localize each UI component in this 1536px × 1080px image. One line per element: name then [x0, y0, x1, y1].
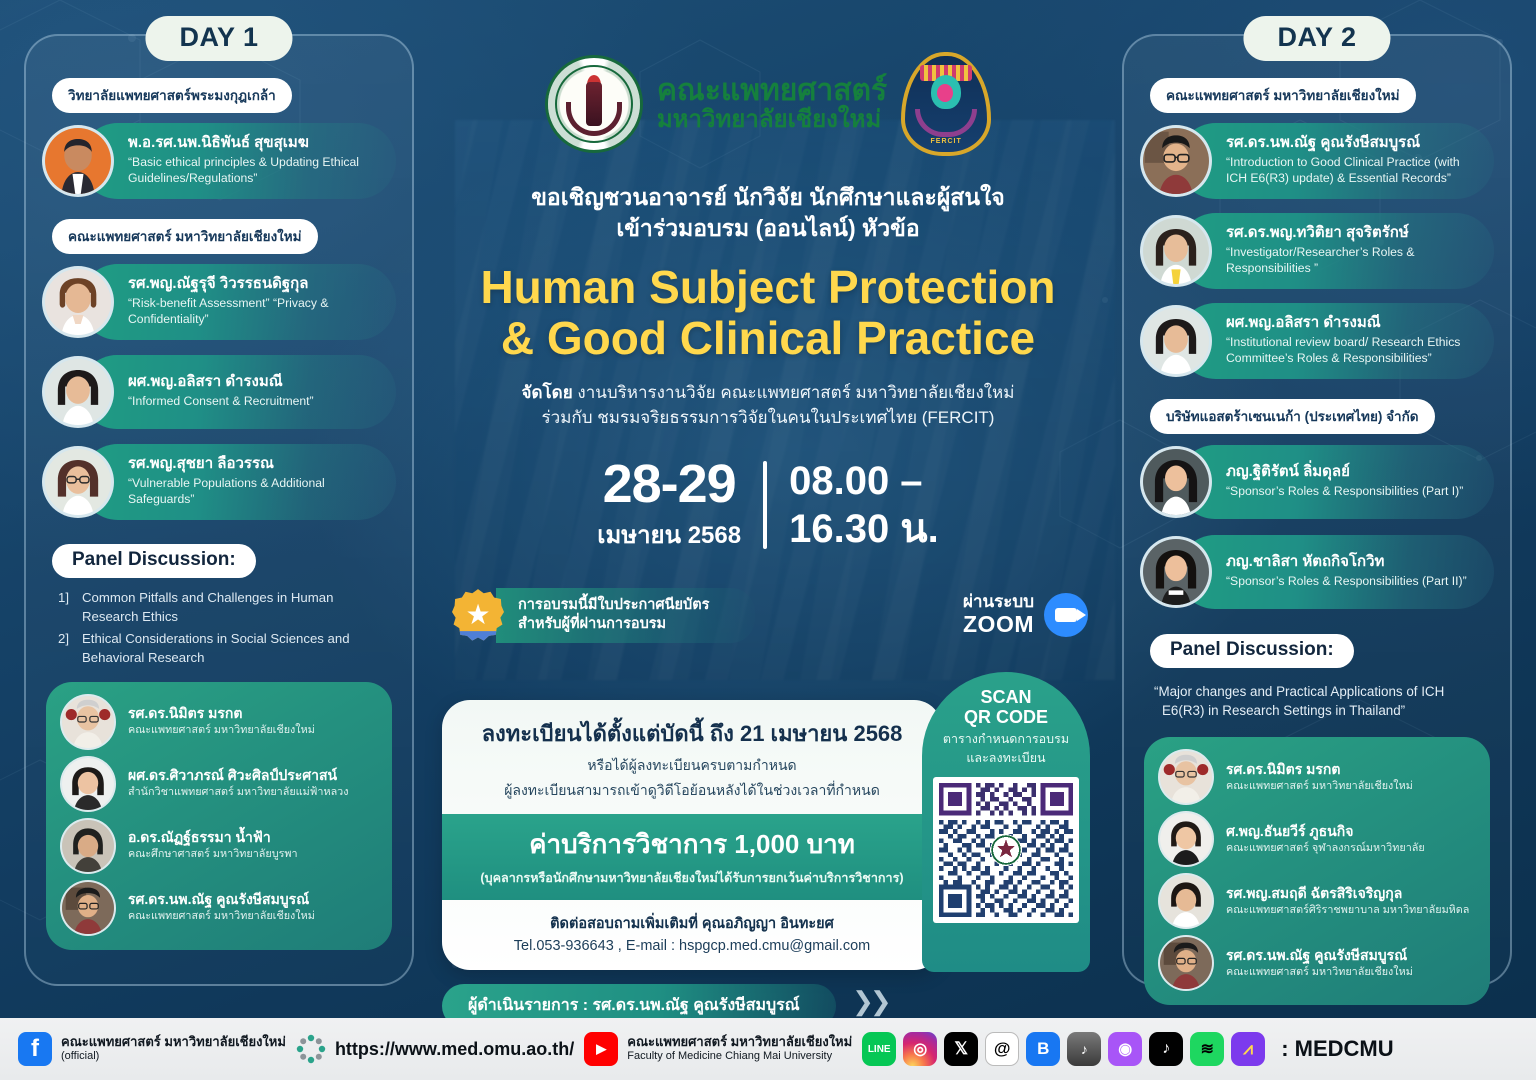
day2-talk-1-name: รศ.ดร.พญ.ทวิติยา สุจริตรักษ์ — [1226, 224, 1478, 243]
day1-talk-3: รศ.พญ.สุชยา ลือวรรณ “Vulnerable Populati… — [42, 444, 396, 520]
contact-line1: ติดต่อสอบถามเพิ่มเติมที่ คุณอภิญญา อินทะ… — [456, 912, 928, 935]
title-line2: & Good Clinical Practice — [430, 313, 1106, 364]
day2-panel-quote: “Major changes and Practical Application… — [1140, 678, 1494, 721]
footer-social-icons: LINE ◎ 𝕏 @ B ♪ ◉ ♪ ≋ ⩘ — [862, 1032, 1265, 1066]
registration-card: ลงทะเบียนได้ตั้งแต่บัดนี้ ถึง 21 เมษายน … — [442, 700, 942, 970]
instagram-icon[interactable]: ◎ — [903, 1032, 937, 1066]
day1-panel-num-0: 1] — [58, 588, 74, 626]
panelist-avatar-siwaporn — [60, 756, 116, 812]
qr-sub1: ตารางกำหนดการอบรม — [922, 732, 1090, 748]
contact-block: ติดต่อสอบถามเพิ่มเติมที่ คุณอภิญญา อินทะ… — [442, 900, 942, 970]
organizer-prefix: จัดโดย — [522, 383, 573, 402]
day1-panelist-0-affil: คณะแพทยศาสตร์ มหาวิทยาลัยเชียงใหม่ — [128, 724, 315, 737]
qr-title1: SCAN — [922, 688, 1090, 708]
spotify-icon[interactable]: ≋ — [1190, 1032, 1224, 1066]
day2-panelist-1-name: ศ.พญ.ธันยวีร์ ภูธนกิจ — [1226, 823, 1425, 840]
certificate-text: การอบรมนี้มีใบประกาศนียบัตร สำหรับผู้ที่… — [496, 588, 755, 643]
day1-panel-list: 1]Common Pitfalls and Challenges in Huma… — [42, 588, 396, 668]
footer-youtube-line2: Faculty of Medicine Chiang Mai Universit… — [627, 1050, 852, 1064]
speaker-avatar-suchaya — [42, 446, 114, 518]
day2-panelist-0: รศ.ดร.นิมิตร มรกต คณะแพทยศาสตร์ มหาวิทยา… — [1158, 749, 1476, 805]
day1-panelist-2-affil: คณะศึกษาศาสตร์ มหาวิทยาลัยบูรพา — [128, 848, 298, 861]
zoom-badge: ผ่านระบบ ZOOM — [963, 593, 1088, 637]
day1-badge: DAY 1 — [145, 16, 292, 61]
facebook-icon[interactable]: f — [18, 1032, 52, 1066]
speaker-avatar-alisara-2 — [1140, 305, 1212, 377]
day1-panelist-3-affil: คณะแพทยศาสตร์ มหาวิทยาลัยเชียงใหม่ — [128, 910, 315, 923]
registration-sub1: หรือได้ผู้ลงทะเบียนครบตามกำหนด — [460, 756, 924, 776]
qr-title2: QR CODE — [922, 708, 1090, 728]
day2-panelist-2: รศ.พญ.สมฤดี ฉัตรสิริเจริญกุล คณะแพทยศาสต… — [1158, 873, 1476, 929]
footer-website[interactable]: https://www.med.omu.ao.th/ — [296, 1034, 574, 1064]
blockdit-icon[interactable]: B — [1026, 1032, 1060, 1066]
cmu-seal-icon — [545, 55, 643, 153]
day2-talk-4-name: ภญ.ชาลิสา หัตถกิจโกวิท — [1226, 553, 1478, 572]
panelist2-avatar-somrudee — [1158, 873, 1214, 929]
badge-row: การอบรมนี้มีใบประกาศนียบัตร สำหรับผู้ที่… — [430, 588, 1106, 643]
fee-note: (บุคลากรหรือนักศึกษามหาวิทยาลัยเชียงใหม่… — [456, 868, 928, 888]
day2-panelist-1: ศ.พญ.ธันยวีร์ ภูธนกิจ คณะแพทยศาสตร์ จุฬา… — [1158, 811, 1476, 867]
day2-talk-0: รศ.ดร.นพ.ณัฐ คูณรังษีสมบูรณ์ “Introducti… — [1140, 123, 1494, 199]
panelist2-avatar-nimit — [1158, 749, 1214, 805]
organizer-block: จัดโดย งานบริหารงานวิจัย คณะแพทยศาสตร์ ม… — [430, 381, 1106, 430]
invite-line1: ขอเชิญชวนอาจารย์ นักวิจัย นักศึกษาและผู้… — [430, 182, 1106, 213]
registration-headline: ลงทะเบียนได้ตั้งแต่บัดนี้ ถึง 21 เมษายน … — [460, 716, 924, 751]
zoom-line2: ZOOM — [963, 612, 1034, 637]
day2-talk-2-name: ผศ.พญ.อลิสรา ดำรงมณี — [1226, 314, 1478, 333]
day2-panelist-2-affil: คณะแพทยศาสตร์ศิริราชพยาบาล มหาวิทยาลัยมห… — [1226, 904, 1469, 917]
tiktok-icon[interactable]: ♪ — [1149, 1032, 1183, 1066]
day1-panel-label: Panel Discussion: — [52, 544, 256, 578]
event-time-line2: 16.30 น. — [789, 505, 939, 553]
day2-talk-4-topic: “Sponsor’s Roles & Responsibilities (Par… — [1226, 574, 1478, 590]
page-title: Human Subject Protection & Good Clinical… — [430, 262, 1106, 363]
day1-panelist-1-affil: สำนักวิชาแพทยศาสตร์ มหาวิทยาลัยแม่ฟ้าหลว… — [128, 786, 349, 799]
panelist-avatar-nattamma — [60, 818, 116, 874]
speaker-avatar-nitipan — [42, 125, 114, 197]
qr-panel: SCAN QR CODE ตารางกำหนดการอบรม และลงทะเบ… — [922, 672, 1090, 972]
fee-headline: ค่าบริการวิชาการ 1,000 บาท — [456, 824, 928, 865]
day1-talk-1-name: รศ.พญ.ณัฐรุจี วิวรรธนดิฐกุล — [128, 275, 380, 294]
day1-talk-1-topic: “Risk-benefit Assessment” “Privacy & Con… — [128, 296, 380, 328]
day1-panel-num-1: 2] — [58, 629, 74, 667]
cmu-wordmark-line1: คณะแพทยศาสตร์ — [657, 75, 887, 107]
event-date-day: 28-29 — [597, 457, 741, 511]
day2-panelist-3-affil: คณะแพทยศาสตร์ มหาวิทยาลัยเชียงใหม่ — [1226, 966, 1413, 979]
day2-panelist-0-name: รศ.ดร.นิมิตร มรกต — [1226, 761, 1413, 778]
apple-podcasts-icon[interactable]: ◉ — [1108, 1032, 1142, 1066]
day2-panelist-3-name: รศ.ดร.นพ.ณัฐ คูณรังษีสมบูรณ์ — [1226, 947, 1413, 964]
day2-org-chip-0: คณะแพทยศาสตร์ มหาวิทยาลัยเชียงใหม่ — [1150, 78, 1416, 113]
threads-icon[interactable]: @ — [985, 1032, 1019, 1066]
panelist-avatar-nat — [60, 880, 116, 936]
event-time-line1: 08.00 – — [789, 457, 939, 505]
footer-facebook-line2: (official) — [61, 1050, 286, 1064]
day2-talk-4: ภญ.ชาลิสา หัตถกิจโกวิท “Sponsor’s Roles … — [1140, 534, 1494, 610]
day1-panelist-2-name: อ.ดร.ณัฏฐ์ธรรมา น้ำฟ้า — [128, 829, 298, 846]
cert-line2: สำหรับผู้ที่ผ่านการอบรม — [518, 615, 709, 635]
day2-panel-label: Panel Discussion: — [1150, 634, 1354, 668]
day1-panel-text-0: Common Pitfalls and Challenges in Human … — [82, 588, 382, 626]
day1-talk-1: รศ.พญ.ณัฐรุจี วิวรรธนดิฐกุล “Risk-benefi… — [42, 264, 396, 340]
speaker-avatar-natruji — [42, 266, 114, 338]
contact-line2: Tel.053-936643 , E-mail : hspgcp.med.cmu… — [456, 938, 928, 954]
x-twitter-icon[interactable]: 𝕏 — [944, 1032, 978, 1066]
organizer-line2: ร่วมกับ ชมรมจริยธรรมการวิจัยในคนในประเทศ… — [430, 406, 1106, 431]
day1-panelist-1: ผศ.ดร.ศิวาภรณ์ ศิวะศิลป์ประศาสน์ สำนักวิ… — [60, 756, 378, 812]
day1-org-chip-1: คณะแพทยศาสตร์ มหาวิทยาลัยเชียงใหม่ — [52, 219, 318, 254]
day1-talk-2: ผศ.พญ.อลิสรา ดำรงมณี “Informed Consent &… — [42, 354, 396, 430]
day2-org-chip-1: บริษัทแอสตร้าเซนเนก้า (ประเทศไทย) จำกัด — [1150, 399, 1435, 434]
day2-column: DAY 2 คณะแพทยศาสตร์ มหาวิทยาลัยเชียงใหม่… — [1122, 34, 1512, 986]
day2-talk-2-topic: “Institutional review board/ Research Et… — [1226, 335, 1478, 367]
day2-talk-3-name: ภญ.ฐิติรัตน์ ลิ่มดุลย์ — [1226, 463, 1478, 482]
footer-website-url[interactable]: https://www.med.omu.ao.th/ — [335, 1039, 574, 1060]
day1-panelists: รศ.ดร.นิมิตร มรกต คณะแพทยศาสตร์ มหาวิทยา… — [46, 682, 392, 950]
speaker-avatar-nat — [1140, 125, 1212, 197]
day2-panelist-3: รศ.ดร.นพ.ณัฐ คูณรังษีสมบูรณ์ คณะแพทยศาสต… — [1158, 935, 1476, 991]
day2-badge: DAY 2 — [1243, 16, 1390, 61]
datetime-divider — [763, 461, 767, 549]
day1-panelist-0-name: รศ.ดร.นิมิตร มรกต — [128, 705, 315, 722]
qr-sub2: และลงทะเบียน — [922, 751, 1090, 767]
cmu-wordmark-line2: มหาวิทยาลัยเชียงใหม่ — [657, 107, 887, 133]
day1-org-chip-0: วิทยาลัยแพทยศาสตร์พระมงกุฎเกล้า — [52, 78, 292, 113]
fercit-label: FERCIT — [931, 138, 962, 145]
certificate-badge: การอบรมนี้มีใบประกาศนียบัตร สำหรับผู้ที่… — [452, 588, 755, 643]
day1-column: DAY 1 วิทยาลัยแพทยศาสตร์พระมงกุฎเกล้า พ.… — [24, 34, 414, 986]
day1-talk-2-name: ผศ.พญ.อลิสรา ดำรงมณี — [128, 373, 380, 392]
footer-facebook[interactable]: f คณะแพทยศาสตร์ มหาวิทยาลัยเชียงใหม่ (of… — [18, 1032, 286, 1066]
qr-code[interactable] — [933, 777, 1079, 923]
qr-code-image — [939, 783, 1073, 917]
day1-talk-0: พ.อ.รศ.นพ.นิธิพันธ์ สุขสุเมฆ “Basic ethi… — [42, 123, 396, 199]
speaker-avatar-chalisa — [1140, 536, 1212, 608]
day2-talk-0-topic: “Introduction to Good Clinical Practice … — [1226, 155, 1478, 187]
day1-talk-3-topic: “Vulnerable Populations & Additional Saf… — [128, 476, 380, 508]
day2-panelist-1-affil: คณะแพทยศาสตร์ จุฬาลงกรณ์มหาวิทยาลัย — [1226, 842, 1425, 855]
registration-sub2: ผู้ลงทะเบียนสามารถเข้าดูวิดีโอย้อนหลังได… — [460, 781, 924, 801]
chevron-decoration-icon: ❯❯ — [852, 986, 888, 1017]
poster-root: DAY 1 วิทยาลัยแพทยศาสตร์พระมงกุฎเกล้า พ.… — [0, 0, 1536, 1080]
day1-talk-0-name: พ.อ.รศ.นพ.นิธิพันธ์ สุขสุเมฆ — [128, 134, 380, 153]
cert-line1: การอบรมนี้มีใบประกาศนียบัตร — [518, 596, 709, 616]
speaker-avatar-tavitiya — [1140, 215, 1212, 287]
day2-talk-1-topic: “Investigator/Researcher’s Roles & Respo… — [1226, 245, 1478, 277]
footer-bar: f คณะแพทยศาสตร์ มหาวิทยาลัยเชียงใหม่ (of… — [0, 1018, 1536, 1080]
datetime-block: 28-29 เมษายน 2568 08.00 – 16.30 น. — [430, 457, 1106, 554]
day2-talk-2: ผศ.พญ.อลิสรา ดำรงมณี “Institutional revi… — [1140, 303, 1494, 379]
soundcloud-icon[interactable]: ⩘ — [1231, 1032, 1265, 1066]
day1-panelist-1-name: ผศ.ดร.ศิวาภรณ์ ศิวะศิลป์ประศาสน์ — [128, 767, 349, 784]
line-icon[interactable]: LINE — [862, 1032, 896, 1066]
day1-talk-0-topic: “Basic ethical principles & Updating Eth… — [128, 155, 380, 187]
speaker-avatar-titirat — [1140, 446, 1212, 518]
day2-talk-0-name: รศ.ดร.นพ.ณัฐ คูณรังษีสมบูรณ์ — [1226, 134, 1478, 153]
invite-text: ขอเชิญชวนอาจารย์ นักวิจัย นักศึกษาและผู้… — [430, 182, 1106, 244]
day1-panelist-0: รศ.ดร.นิมิตร มรกต คณะแพทยศาสตร์ มหาวิทยา… — [60, 694, 378, 750]
speaker-avatar-alisara — [42, 356, 114, 428]
fee-band: ค่าบริการวิชาการ 1,000 บาท (บุคลากรหรือน… — [442, 814, 942, 900]
logo-row: คณะแพทยศาสตร์ มหาวิทยาลัยเชียงใหม่ FERCI… — [430, 0, 1106, 156]
panelist-avatar-nimit — [60, 694, 116, 750]
registration-top: ลงทะเบียนได้ตั้งแต่บัดนี้ ถึง 21 เมษายน … — [442, 700, 942, 814]
panelist2-avatar-nat — [1158, 935, 1214, 991]
footer-facebook-line1: คณะแพทยศาสตร์ มหาวิทยาลัยเชียงใหม่ — [61, 1034, 286, 1050]
day2-panelist-2-name: รศ.พญ.สมฤดี ฉัตรสิริเจริญกุล — [1226, 885, 1469, 902]
zoom-line1: ผ่านระบบ — [963, 593, 1034, 612]
footer-youtube-line1: คณะแพทยศาสตร์ มหาวิทยาลัยเชียงใหม่ — [627, 1034, 852, 1050]
invite-line2: เข้าร่วมอบรม (ออนไลน์) หัวข้อ — [430, 213, 1106, 244]
day1-panelist-2: อ.ดร.ณัฏฐ์ธรรมา น้ำฟ้า คณะศึกษาศาสตร์ มห… — [60, 818, 378, 874]
day2-panelist-0-affil: คณะแพทยศาสตร์ มหาวิทยาลัยเชียงใหม่ — [1226, 780, 1413, 793]
fercit-logo-icon: FERCIT — [901, 52, 991, 156]
day1-panelist-3-name: รศ.ดร.นพ.ณัฐ คูณรังษีสมบูรณ์ — [128, 891, 315, 908]
footer-youtube[interactable]: ▶ คณะแพทยศาสตร์ มหาวิทยาลัยเชียงใหม่ Fac… — [584, 1032, 852, 1066]
day1-panelist-3: รศ.ดร.นพ.ณัฐ คูณรังษีสมบูรณ์ คณะแพทยศาสต… — [60, 880, 378, 936]
zoom-camera-icon — [1044, 593, 1088, 637]
day2-talk-1: รศ.ดร.พญ.ทวิติยา สุจริตรักษ์ “Investigat… — [1140, 213, 1494, 289]
footer-handle: : MEDCMU — [1281, 1036, 1393, 1062]
panelist2-avatar-thanyawee — [1158, 811, 1214, 867]
day1-panel-text-1: Ethical Considerations in Social Science… — [82, 629, 382, 667]
day2-panelists: รศ.ดร.นิมิตร มรกต คณะแพทยศาสตร์ มหาวิทยา… — [1144, 737, 1490, 1005]
day1-talk-3-name: รศ.พญ.สุชยา ลือวรรณ — [128, 455, 380, 474]
med-cmu-logo-icon — [296, 1034, 326, 1064]
organizer-line1: งานบริหารงานวิจัย คณะแพทยศาสตร์ มหาวิทยา… — [577, 383, 1014, 402]
title-line1: Human Subject Protection — [430, 262, 1106, 313]
youtube-icon[interactable]: ▶ — [584, 1032, 618, 1066]
event-date-month-year: เมษายน 2568 — [597, 515, 741, 554]
cmu-wordmark: คณะแพทยศาสตร์ มหาวิทยาลัยเชียงใหม่ — [657, 75, 887, 133]
day1-talk-2-topic: “Informed Consent & Recruitment” — [128, 394, 380, 410]
day2-talk-3: ภญ.ฐิติรัตน์ ลิ่มดุลย์ “Sponsor’s Roles … — [1140, 444, 1494, 520]
day2-talk-3-topic: “Sponsor’s Roles & Responsibilities (Par… — [1226, 484, 1478, 500]
podcast-person-icon[interactable]: ♪ — [1067, 1032, 1101, 1066]
center-column: คณะแพทยศาสตร์ มหาวิทยาลัยเชียงใหม่ FERCI… — [430, 0, 1106, 1000]
